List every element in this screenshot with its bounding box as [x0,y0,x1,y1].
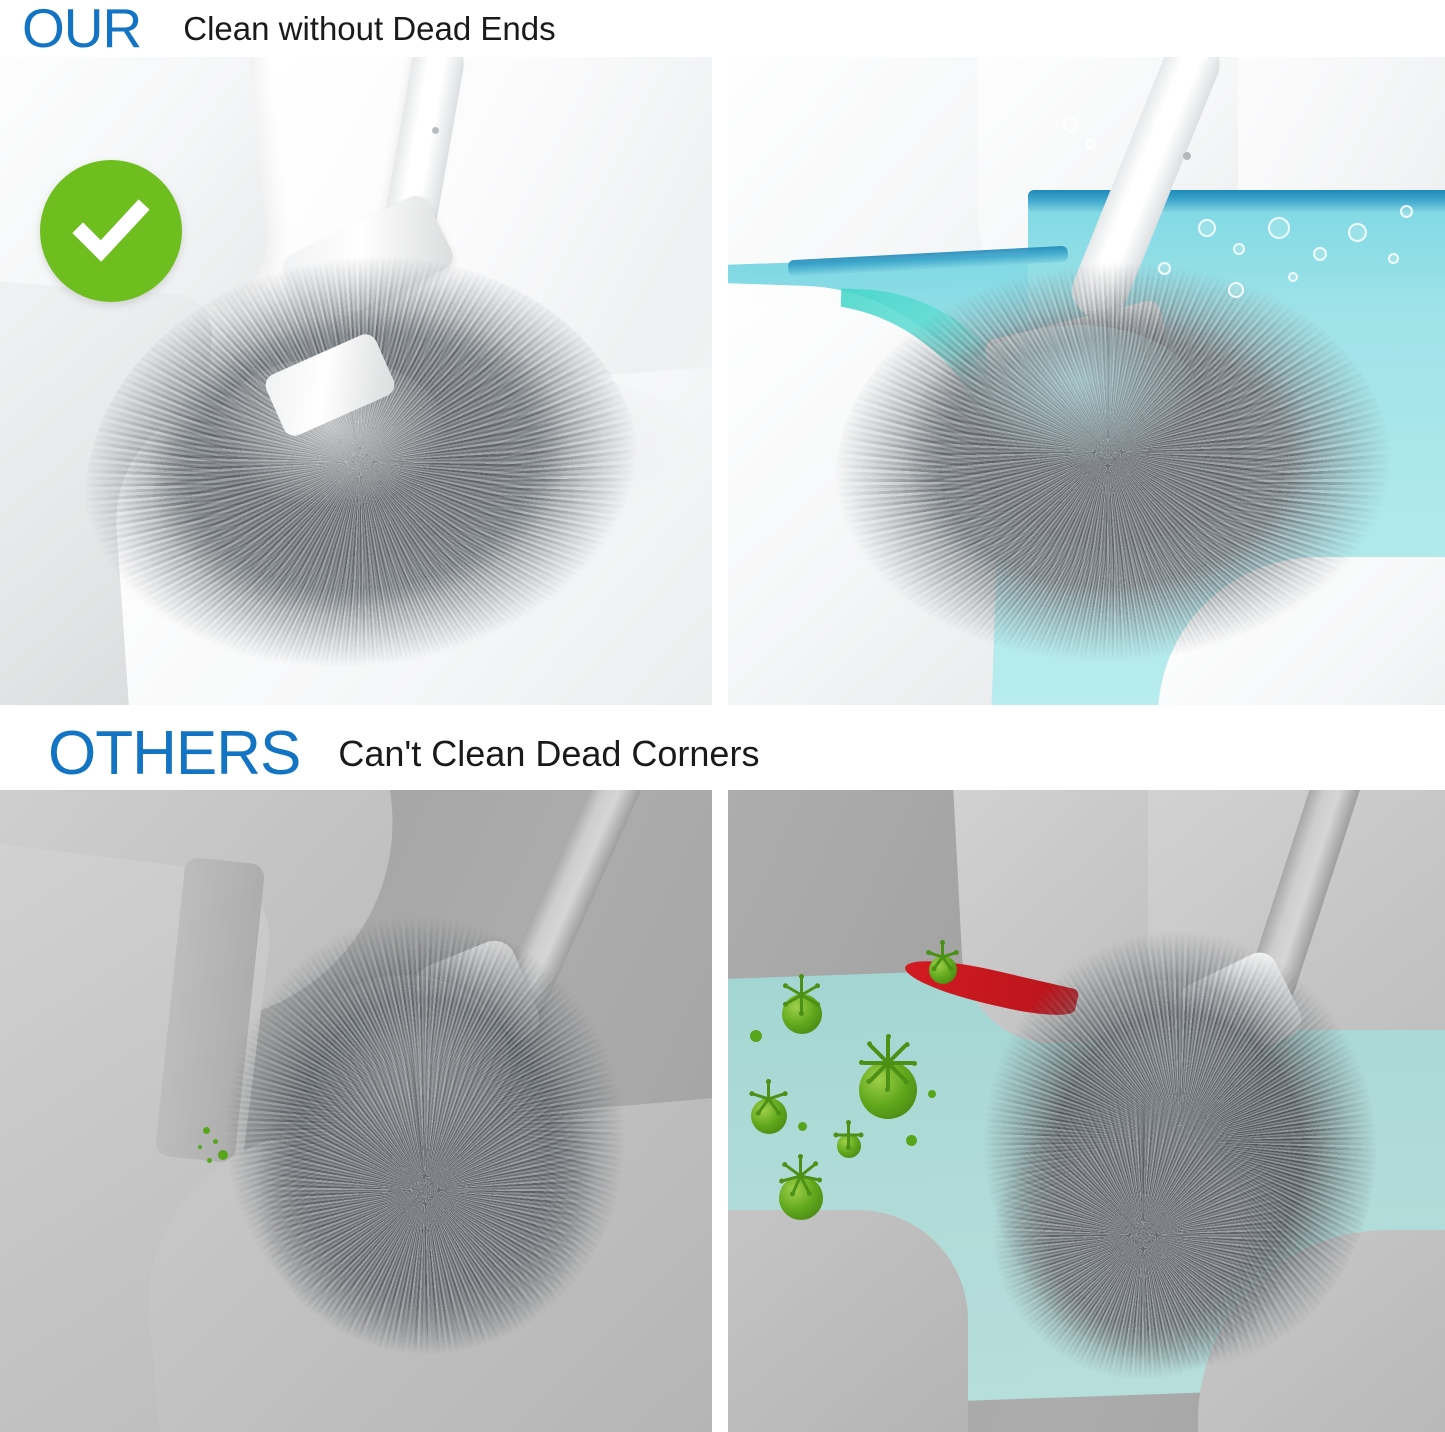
bubble [1063,117,1078,132]
bubble [1158,262,1171,275]
panel-others-water [728,790,1445,1432]
handle-hole-icon [432,127,439,134]
tagline-our: Clean without Dead Ends [183,12,555,45]
bubble [1198,219,1216,237]
tagline-others: Can't Clean Dead Corners [338,736,759,772]
panel-our-water [728,57,1445,705]
germ-dot [928,1090,936,1098]
germ-core [779,1176,823,1220]
germ-dot [906,1135,917,1146]
germ-dot [798,1122,807,1131]
germ-dot [213,1139,218,1144]
germ-spike [800,995,803,1013]
germ-medium [733,1080,805,1152]
germ-small [913,940,973,1000]
bubble [1228,282,1244,298]
bubble [1313,247,1327,261]
germ-dot [203,1127,210,1134]
germ-spike [849,1134,861,1137]
water-surface-line [1028,190,1445,212]
bubble [1086,139,1096,149]
header-our: OUR Clean without Dead Ends [0,0,1445,57]
germ-dot [198,1145,202,1149]
brand-label-our: OUR [22,1,141,56]
toilet-bowl-left [728,1210,968,1432]
bristle-highlight [1058,980,1258,1170]
bristle-highlight [300,975,510,1155]
germ-dot [750,1030,762,1042]
bubble [1388,253,1399,264]
bubble [1400,205,1413,218]
bubble [1268,217,1290,239]
germ-spike [837,1134,849,1137]
germ-medium [763,975,841,1053]
header-others: OTHERS Can't Clean Dead Corners [0,718,1445,790]
germ-dot [207,1158,212,1163]
panel-others-dry [0,790,712,1432]
check-badge-our-dry [40,160,182,302]
bristle-gap-highlight [958,325,1198,465]
check-icon [68,188,154,274]
germ-small [823,1120,875,1172]
bubble [1233,243,1245,255]
bubble [1288,272,1298,282]
panel-our-dry [0,57,712,705]
handle-hole-icon [1183,152,1191,160]
germ-spike [847,1135,850,1147]
brand-label-others: OTHERS [48,723,300,785]
bubble [1348,223,1367,242]
